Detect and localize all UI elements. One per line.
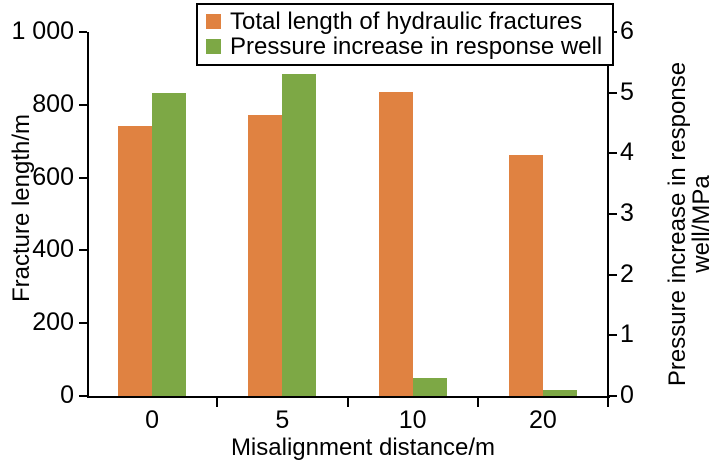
bar — [509, 155, 543, 396]
bar — [413, 378, 447, 396]
y-tick-label-left: 1 000 — [0, 19, 74, 44]
y-tick-left — [79, 322, 87, 324]
legend-swatch-green — [206, 39, 221, 54]
y-tick-left — [79, 249, 87, 251]
legend-label-total-length: Total length of hydraulic fractures — [230, 9, 582, 34]
legend-item-total-length: Total length of hydraulic fractures — [206, 9, 602, 34]
bar — [152, 93, 186, 396]
legend-label-pressure-increase: Pressure increase in response well — [230, 34, 602, 59]
x-tick — [347, 398, 349, 407]
y-tick-label-right: 0 — [620, 383, 650, 408]
y-tick-left — [79, 104, 87, 106]
y-tick-right — [609, 92, 617, 94]
bar — [248, 115, 282, 396]
y-tick-label-right: 5 — [620, 80, 650, 105]
right-axis-spine — [607, 32, 609, 398]
y-tick-label-right: 3 — [620, 201, 650, 226]
x-tick-label: 0 — [107, 408, 197, 433]
legend: Total length of hydraulic fractures Pres… — [196, 3, 614, 66]
y-tick-right — [609, 334, 617, 336]
y-tick-label-right: 2 — [620, 262, 650, 287]
y-tick-left — [79, 395, 87, 397]
y-tick-right — [609, 395, 617, 397]
bar-chart: 02004006008001 000 0123456 051020 Misali… — [0, 0, 726, 460]
y-tick-right — [609, 274, 617, 276]
bar — [379, 92, 413, 396]
legend-swatch-orange — [206, 14, 221, 29]
x-tick — [477, 398, 479, 407]
x-tick-label: 5 — [237, 408, 327, 433]
y-tick-label-left: 0 — [0, 383, 74, 408]
bottom-axis-spine — [87, 396, 610, 398]
x-tick — [216, 398, 218, 407]
y-axis-title-right: Pressure increase in response well/MPa — [666, 14, 714, 434]
bar — [282, 74, 316, 396]
y-axis-title-left: Fracture length/m — [10, 68, 34, 348]
y-tick-label-right: 1 — [620, 322, 650, 347]
bar — [543, 390, 577, 396]
legend-item-pressure-increase: Pressure increase in response well — [206, 34, 602, 59]
bar — [118, 126, 152, 396]
y-tick-left — [79, 177, 87, 179]
x-tick-label: 20 — [498, 408, 588, 433]
y-tick-left — [79, 31, 87, 33]
y-tick-label-right: 4 — [620, 140, 650, 165]
y-tick-right — [609, 213, 617, 215]
left-axis-spine — [87, 32, 89, 398]
x-axis-title: Misalignment distance/m — [0, 436, 726, 460]
x-tick — [607, 398, 609, 407]
y-tick-label-right: 6 — [620, 19, 650, 44]
x-tick-label: 10 — [368, 408, 458, 433]
y-tick-right — [609, 152, 617, 154]
